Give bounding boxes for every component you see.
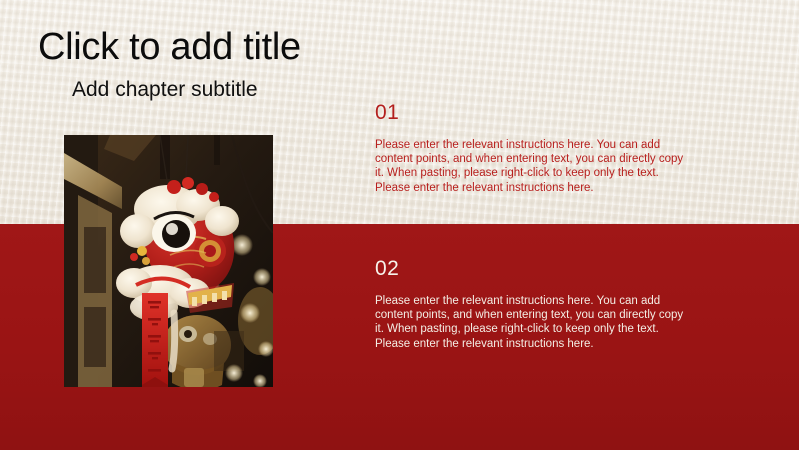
page-subtitle[interactable]: Add chapter subtitle xyxy=(72,77,258,103)
block-body-01[interactable]: Please enter the relevant instructions h… xyxy=(375,139,695,196)
presentation-slide: Click to add title Add chapter subtitle xyxy=(0,0,799,450)
block-body-01-tail: Please enter the relevant instructions h… xyxy=(375,182,695,196)
block-number-02: 02 xyxy=(375,256,695,281)
content-block-01: 01 Please enter the relevant instruction… xyxy=(375,100,695,196)
block-body-02-tail: Please enter the relevant instructions h… xyxy=(375,338,695,352)
content-block-02: 02 Please enter the relevant instruction… xyxy=(375,256,695,352)
block-body-02-main: Please enter the relevant instructions h… xyxy=(375,295,683,335)
chinese-lion-dance-head-photo xyxy=(64,135,273,387)
block-body-02[interactable]: Please enter the relevant instructions h… xyxy=(375,295,695,352)
block-body-01-main: Please enter the relevant instructions h… xyxy=(375,139,683,179)
block-number-01: 01 xyxy=(375,100,695,125)
page-title[interactable]: Click to add title xyxy=(38,25,301,69)
photo-artwork xyxy=(64,135,273,387)
